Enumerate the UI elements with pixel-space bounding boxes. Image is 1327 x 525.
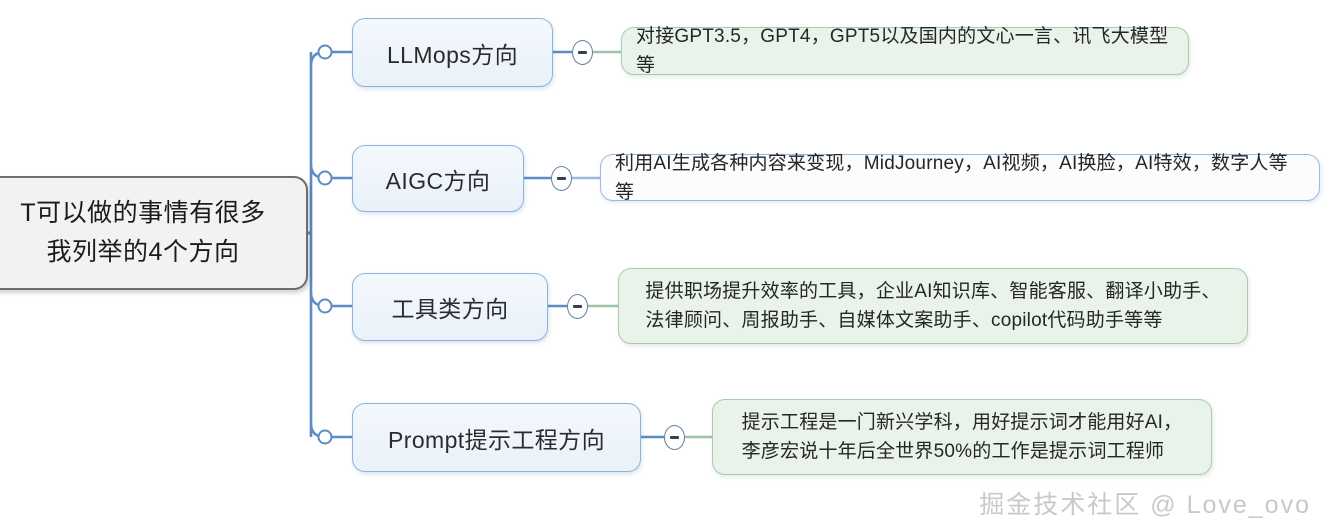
leaf-node-prompt[interactable]: 提示工程是一门新兴学科，用好提示词才能用好AI， 李彦宏说十年后全世界50%的工… [712,399,1212,475]
watermark: 掘金技术社区 @ Love_ovo [979,485,1311,521]
leaf-node-aigc[interactable]: 利用AI生成各种内容来变现，MidJourney，AI视频，AI换脸，AI特效，… [600,154,1320,201]
mindmap-canvas: T可以做的事情有很多 我列举的4个方向 LLMops方向 对接GPT3.5，GP… [0,0,1327,525]
collapse-toggle-llmops[interactable] [572,40,593,65]
leaf-node-text: 提示工程是一门新兴学科，用好提示词才能用好AI， 李彦宏说十年后全世界50%的工… [742,408,1183,466]
leaf-node-tools[interactable]: 提供职场提升效率的工具，企业AI知识库、智能客服、翻译小助手、 法律顾问、周报助… [618,268,1248,344]
leaf-node-text: 对接GPT3.5，GPT4，GPT5以及国内的文心一言、讯飞大模型等 [636,22,1174,80]
branch-node-tools[interactable]: 工具类方向 [352,273,548,341]
root-node-label: T可以做的事情有很多 我列举的4个方向 [20,194,265,272]
branch-node-label: 工具类方向 [392,290,509,324]
root-node[interactable]: T可以做的事情有很多 我列举的4个方向 [0,176,308,290]
leaf-node-text: 利用AI生成各种内容来变现，MidJourney，AI视频，AI换脸，AI特效，… [615,149,1305,207]
collapse-toggle-prompt[interactable] [664,425,685,450]
minus-icon [578,51,587,53]
minus-icon [573,305,582,307]
minus-icon [557,177,566,179]
minus-icon [670,436,679,438]
branch-node-prompt[interactable]: Prompt提示工程方向 [352,403,641,472]
branch-node-llmops[interactable]: LLMops方向 [352,18,553,87]
branch-node-label: Prompt提示工程方向 [388,421,605,455]
leaf-node-text: 提供职场提升效率的工具，企业AI知识库、智能客服、翻译小助手、 法律顾问、周报助… [645,277,1220,335]
collapse-toggle-aigc[interactable] [551,166,572,191]
leaf-node-llmops[interactable]: 对接GPT3.5，GPT4，GPT5以及国内的文心一言、讯飞大模型等 [621,27,1189,75]
branch-node-label: AIGC方向 [386,162,491,196]
collapse-toggle-tools[interactable] [567,294,588,319]
branch-node-label: LLMops方向 [387,36,518,70]
branch-node-aigc[interactable]: AIGC方向 [352,145,524,212]
